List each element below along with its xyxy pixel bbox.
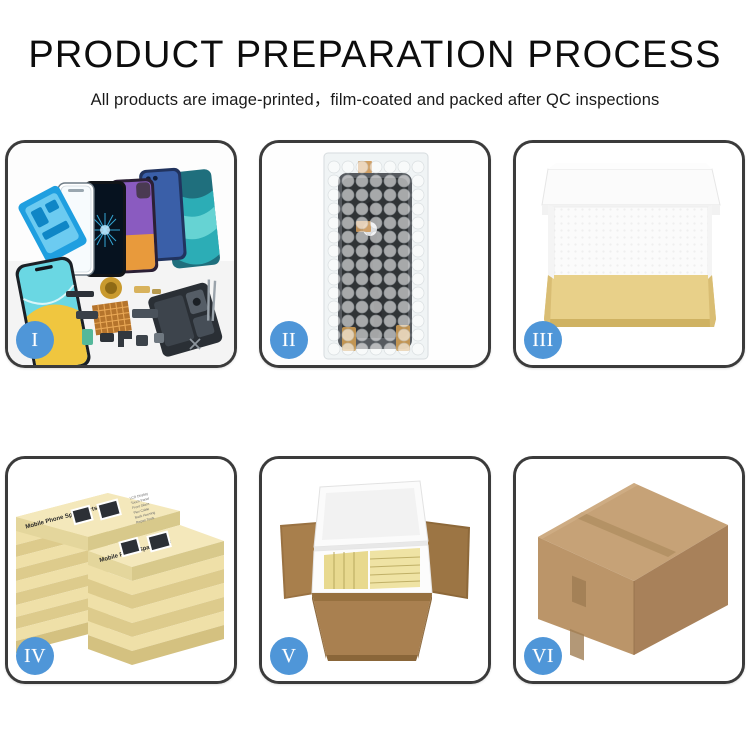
- step-badge-5: V: [270, 637, 308, 675]
- process-step-panel-2[interactable]: II: [259, 140, 491, 368]
- step-badge-6: VI: [524, 637, 562, 675]
- process-step-panel-5[interactable]: V: [259, 456, 491, 684]
- page-title: PRODUCT PREPARATION PROCESS: [0, 36, 750, 76]
- step-badge-4: IV: [16, 637, 54, 675]
- process-step-panel-1[interactable]: I: [5, 140, 237, 368]
- process-step-panel-6[interactable]: VI: [513, 456, 745, 684]
- page-header: PRODUCT PREPARATION PROCESS All products…: [0, 0, 750, 110]
- process-step-grid: I: [0, 140, 750, 684]
- process-step-panel-3[interactable]: III: [513, 140, 745, 368]
- step-badge-3: III: [524, 321, 562, 359]
- step-badge-1: I: [16, 321, 54, 359]
- process-step-panel-4[interactable]: Mobile Phone Spare Parts LCD Display Tou…: [5, 456, 237, 684]
- step-badge-2: II: [270, 321, 308, 359]
- page-subtitle: All products are image-printed，film-coat…: [0, 86, 750, 110]
